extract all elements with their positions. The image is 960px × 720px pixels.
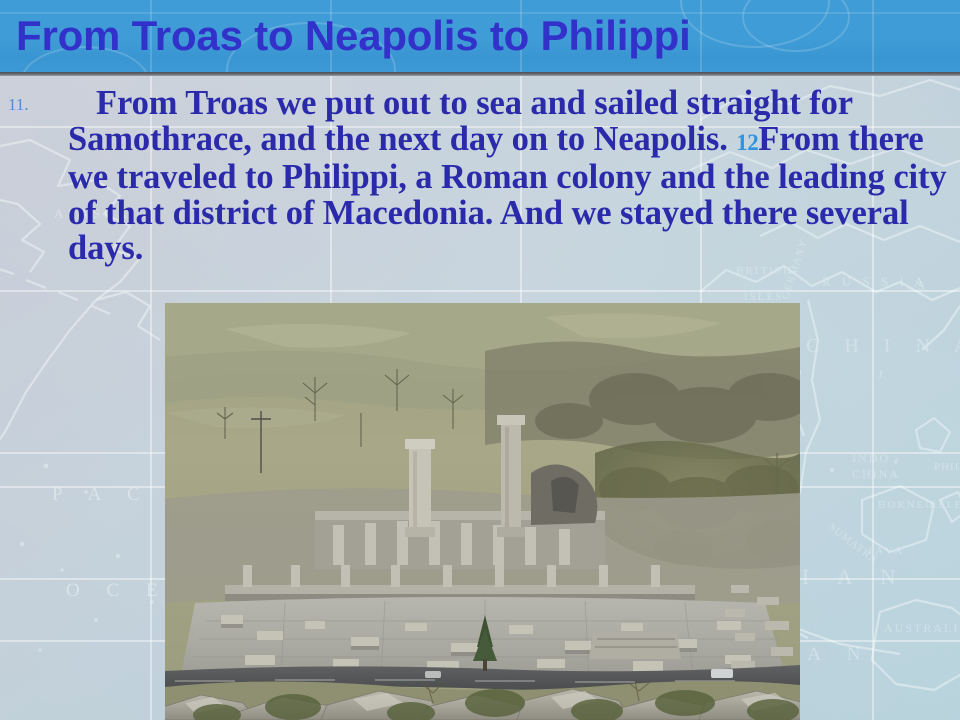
banner-divider: [0, 72, 960, 76]
svg-text:INDO -: INDO -: [852, 451, 901, 465]
svg-text:BORNEO: BORNEO: [878, 499, 935, 511]
map-gridline-h: [0, 290, 960, 292]
svg-text:R U S S I A: R U S S I A: [822, 274, 928, 289]
svg-text:ISLES: ISLES: [744, 291, 783, 303]
svg-text:AUSTRALIA: AUSTRALIA: [884, 621, 960, 635]
philippi-ruins-illustration: [165, 303, 800, 720]
philippi-ruins-photo: [165, 303, 800, 720]
page-title: From Troas to Neapolis to Philippi: [16, 5, 956, 67]
svg-text:CHINA: CHINA: [852, 467, 900, 481]
svg-text:S: S: [918, 279, 927, 293]
verse-number-12: 12: [736, 130, 758, 155]
svg-text:CELEBES: CELEBES: [930, 500, 960, 511]
list-marker: 11.: [8, 95, 29, 115]
svg-text:SUMATRA: SUMATRA: [826, 521, 880, 567]
verse-paragraph: From Troas we put out to sea and sailed …: [68, 86, 948, 267]
verse-text-part-1: From Troas we put out to sea and sailed …: [68, 84, 852, 158]
svg-text:BRITISH: BRITISH: [736, 265, 793, 277]
slide: ALASKA P A C I F I C O C E A N C H I N A…: [0, 0, 960, 720]
svg-text:I A N: I A N: [802, 565, 908, 589]
svg-text:J.: J.: [878, 369, 887, 381]
svg-text:JAVA: JAVA: [868, 545, 905, 557]
svg-text:C H I N A: C H I N A: [806, 335, 960, 357]
title-banner: From Troas to Neapolis to Philippi: [0, 0, 960, 72]
verse-block: 11. From Troas we put out to sea and sai…: [0, 86, 952, 267]
svg-text:PHILIPP: PHILIPP: [934, 461, 960, 473]
